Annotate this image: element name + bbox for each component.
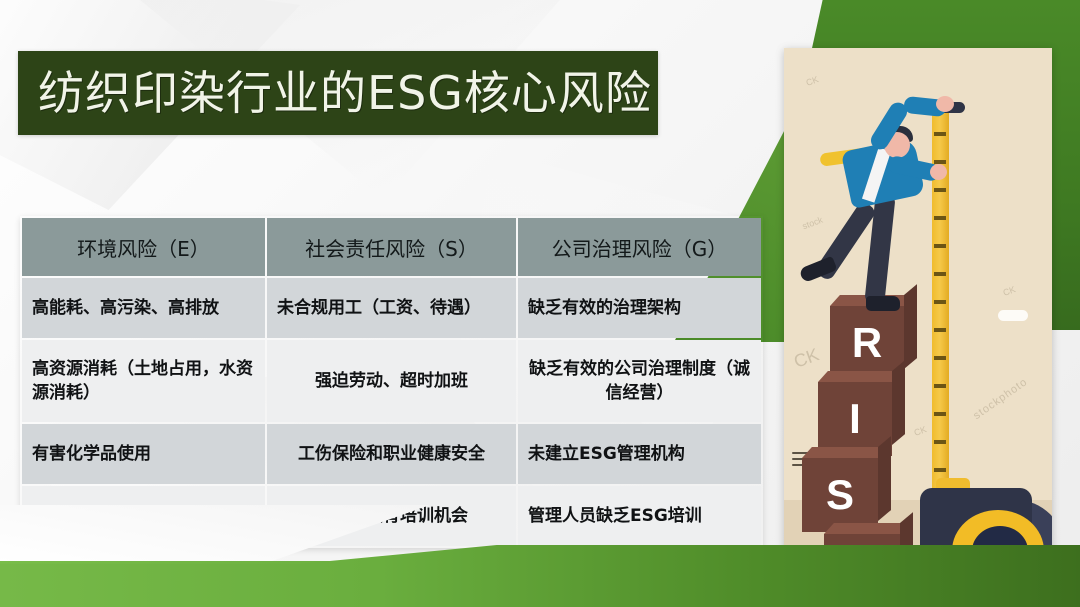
watermark-text: stock [801, 215, 824, 232]
cell-governance-1: 缺乏有效的治理架构 [518, 278, 761, 338]
cell-governance-3: 未建立ESG管理机构 [518, 424, 761, 484]
page-title: 纺织印染行业的ESG核心风险 [18, 70, 652, 116]
tape-tick [934, 440, 946, 444]
person-lower-hand [930, 164, 947, 180]
esg-risk-table: 环境风险（E） 社会责任风险（S） 公司治理风险（G） 高能耗、高污染、高排放 … [20, 216, 763, 548]
tape-tick [934, 132, 946, 136]
slide-canvas: 纺织印染行业的ESG核心风险 环境风险（E） 社会责任风险（S） 公司治理风险（… [0, 0, 1080, 607]
cell-social-3: 工伤保险和职业健康安全 [267, 424, 516, 484]
cell-social-1: 未合规用工（工资、待遇） [267, 278, 516, 338]
tape-tick [934, 216, 946, 220]
cell-environment-1: 高能耗、高污染、高排放 [22, 278, 265, 338]
tape-tick [934, 188, 946, 192]
column-header-social: 社会责任风险（S） [267, 218, 516, 276]
cloud-shape [998, 310, 1028, 321]
watermark-text: CK [1002, 284, 1017, 298]
tape-tick [934, 272, 946, 276]
tape-tick [934, 300, 946, 304]
cell-governance-2: 缺乏有效的公司治理制度（诚信经营） [518, 340, 761, 422]
risk-block-letter: S [802, 458, 878, 532]
watermark-text: stockphoto [971, 376, 1030, 422]
cell-environment-2: 高资源消耗（土地占用，水资源消耗） [22, 340, 265, 422]
tape-tick [934, 244, 946, 248]
title-banner: 纺织印染行业的ESG核心风险 [18, 51, 658, 135]
table-row: 高资源消耗（土地占用，水资源消耗） 强迫劳动、超时加班 缺乏有效的公司治理制度（… [22, 340, 761, 422]
tape-tick [934, 384, 946, 388]
risk-illustration: CK stock CK stockphoto CK CK CK CK R [784, 48, 1052, 556]
person-back-shoe [866, 296, 900, 311]
watermark-text: CK [913, 424, 928, 438]
table-row: 有害化学品使用 工伤保险和职业健康安全 未建立ESG管理机构 [22, 424, 761, 484]
tape-tick [934, 328, 946, 332]
watermark-text: CK [791, 344, 822, 372]
tape-tick [934, 356, 946, 360]
cell-environment-3: 有害化学品使用 [22, 424, 265, 484]
table-header-row: 环境风险（E） 社会责任风险（S） 公司治理风险（G） [22, 218, 761, 276]
person-front-shoe [799, 256, 838, 283]
table-row: 高能耗、高污染、高排放 未合规用工（工资、待遇） 缺乏有效的治理架构 [22, 278, 761, 338]
tape-tick [934, 412, 946, 416]
cell-governance-4: 管理人员缺乏ESG培训 [518, 486, 761, 546]
risk-block-s: S [802, 458, 878, 532]
tape-tick [934, 468, 946, 472]
watermark-text: CK [805, 74, 820, 88]
column-header-environment: 环境风险（E） [22, 218, 265, 276]
column-header-governance: 公司治理风险（G） [518, 218, 761, 276]
person-upper-hand [936, 96, 954, 112]
cell-social-2: 强迫劳动、超时加班 [267, 340, 516, 422]
